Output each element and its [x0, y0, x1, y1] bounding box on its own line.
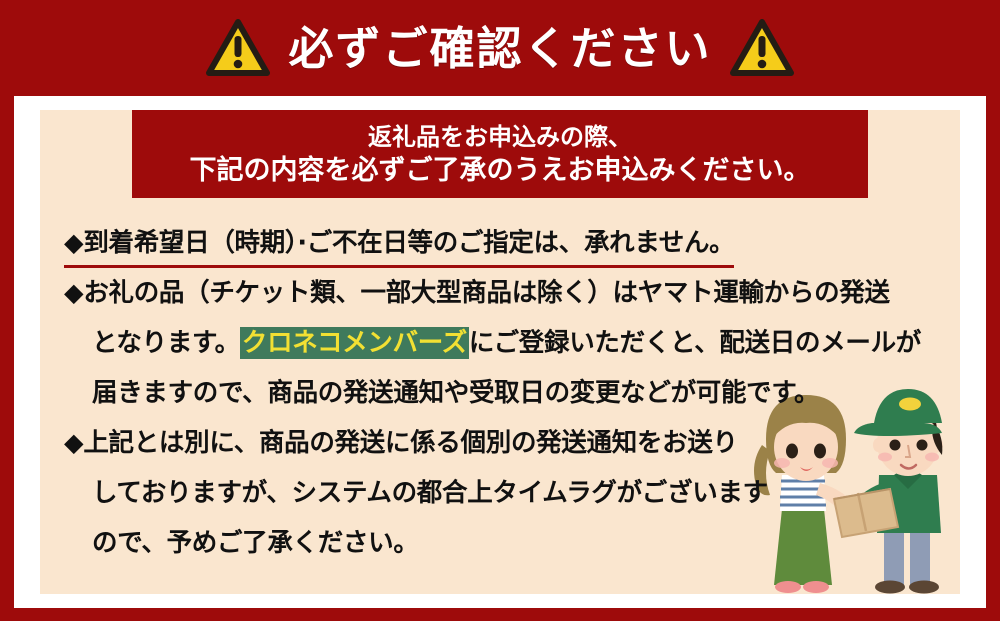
bullet-3-line-1: 上記とは別に、商品の発送に係る個別の発送通知をお送り	[83, 428, 737, 458]
bullet-2-line-1: お礼の品（チケット類、一部大型商品は除く）はヤマト運輸からの発送	[83, 278, 889, 308]
bullet-1-text: ◆到着希望日（時期）·ご不在日等のご指定は、承れません。	[64, 223, 734, 268]
bullet-2-line-2a: となります。	[92, 328, 240, 358]
notice-line-2: 下記の内容を必ずご了承のうえお申込みください。	[190, 153, 811, 188]
notice-band: 返礼品をお申込みの際、 下記の内容を必ずご了承のうえお申込みください。	[132, 110, 868, 198]
bullet-2-line-2-row: となります。クロネコメンバーズにご登録いただくと、配送日のメールが	[64, 318, 944, 368]
bullet-2-line-3: 届きますので、商品の発送通知や受取日の変更などが可能です。	[64, 368, 944, 418]
header-bar: 必ずご確認ください	[0, 0, 1000, 96]
list-item: ◆到着希望日（時期）·ご不在日等のご指定は、承れません。	[64, 218, 944, 268]
bullet-list: ◆到着希望日（時期）·ご不在日等のご指定は、承れません。 ◆お礼の品（チケット類…	[64, 218, 944, 568]
kuroneko-members-highlight[interactable]: クロネコメンバーズ	[240, 327, 469, 359]
bullet-3-line-3: ので、予めご了承ください。	[64, 518, 944, 568]
bullet-2-line-2b: にご登録いただくと、配送日のメールが	[469, 328, 921, 358]
list-item: ◆上記とは別に、商品の発送に係る個別の発送通知をお送り	[64, 418, 944, 468]
bullet-3-line-2: しておりますが、システムの都合上タイムラグがございます	[64, 468, 944, 518]
bullet-3-marker: ◆	[64, 428, 83, 458]
warning-triangle-icon	[206, 19, 270, 77]
notice-banner: 必ずご確認ください	[0, 0, 1000, 621]
list-item: ◆お礼の品（チケット類、一部大型商品は除く）はヤマト運輸からの発送	[64, 268, 944, 318]
notice-line-1: 返礼品をお申込みの際、	[368, 122, 632, 153]
warning-triangle-icon	[730, 19, 794, 77]
bullet-2-marker: ◆	[64, 278, 83, 308]
page-title: 必ずご確認ください	[288, 26, 711, 71]
